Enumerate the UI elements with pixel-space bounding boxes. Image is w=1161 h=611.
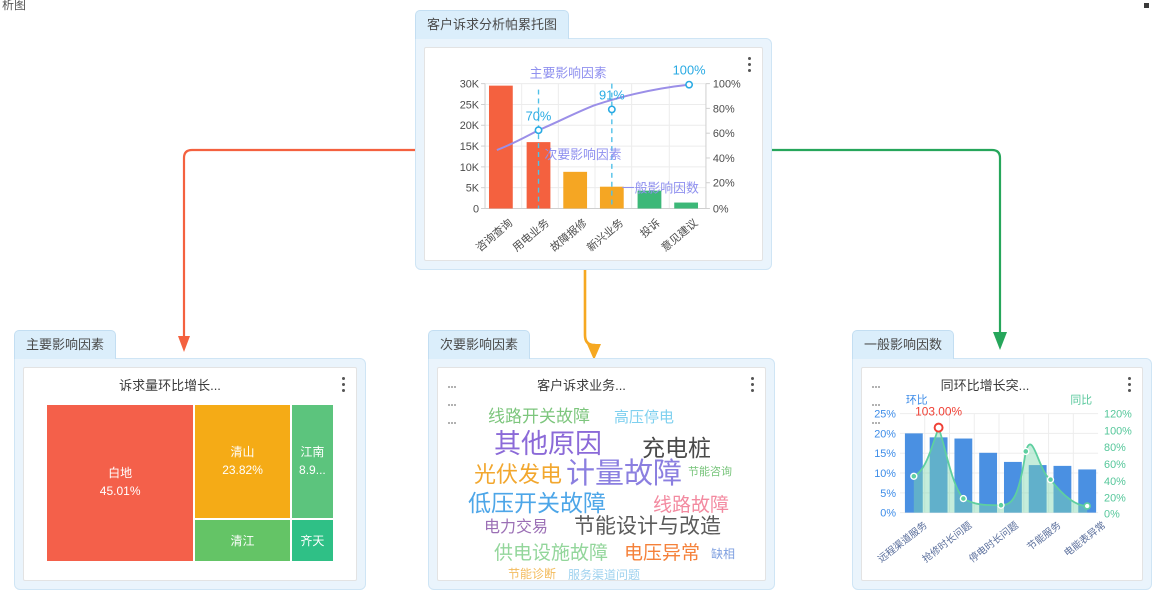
svg-text:5%: 5% [880, 488, 896, 500]
word-cloud-item[interactable]: 高压停电 [614, 410, 674, 425]
panel-pareto: 客户诉求分析帕累托图 [415, 10, 772, 271]
kebab-menu-icon[interactable] [342, 377, 345, 395]
treemap-label: 齐天 [300, 532, 324, 550]
treemap-label: 清山 [231, 443, 255, 461]
svg-text:0%: 0% [1104, 509, 1120, 521]
word-cloud-item[interactable]: 计量故障 [566, 460, 682, 489]
svg-text:5K: 5K [466, 183, 480, 195]
svg-text:60%: 60% [713, 128, 735, 140]
tab-pareto[interactable]: 客户诉求分析帕累托图 [415, 10, 569, 39]
treemap-label: 清江 [231, 532, 255, 550]
word-cloud-item[interactable]: 节能诊断 [508, 568, 556, 580]
svg-text:80%: 80% [1104, 442, 1126, 454]
panel-major-body: 诉求量环比增长... 白地 45.01% 清山 23.82% 江南 [14, 358, 366, 590]
svg-text:咨询查询: 咨询查询 [473, 215, 515, 254]
svg-text:100%: 100% [1104, 425, 1132, 437]
svg-text:15%: 15% [874, 448, 896, 460]
treemap: 白地 45.01% 清山 23.82% 江南 8.9... [46, 404, 334, 562]
treemap-cell[interactable]: 清江 [194, 519, 290, 562]
treemap-label: 江南 [300, 443, 324, 461]
kebab-menu-icon[interactable] [751, 377, 754, 395]
svg-text:节能服务: 节能服务 [1024, 518, 1063, 553]
svg-text:意见建议: 意见建议 [658, 215, 700, 254]
annotation-secondary: 次要影响因素 [544, 147, 621, 162]
pareto-chart: 30K 25K 20K 15K 10K 5K 0 100% 80% 60% [425, 48, 762, 260]
svg-text:100%: 100% [713, 79, 741, 91]
word-cloud-item[interactable]: 低压开关故障 [468, 492, 606, 515]
svg-text:20%: 20% [1104, 493, 1126, 505]
combo-chart: 25% 20% 15% 10% 5% 0% 120% 100% 80% 60% … [862, 368, 1142, 580]
combo-peak-label: 103.00% [915, 405, 962, 419]
treemap-cell[interactable]: 齐天 [291, 519, 334, 562]
svg-text:15K: 15K [460, 141, 480, 153]
svg-text:0%: 0% [880, 508, 896, 520]
word-cloud-item[interactable]: 节能设计与改造 [574, 516, 721, 537]
svg-text:投诉: 投诉 [637, 215, 663, 240]
word-cloud-item[interactable]: 供电设施故障 [494, 544, 608, 563]
svg-text:25%: 25% [874, 409, 896, 421]
svg-text:电能表异常: 电能表异常 [1061, 518, 1108, 559]
card-major-treemap: 诉求量环比增长... 白地 45.01% 清山 23.82% 江南 [23, 367, 357, 581]
svg-text:故障报修: 故障报修 [547, 215, 589, 254]
svg-text:30K: 30K [460, 79, 480, 91]
svg-text:10%: 10% [874, 468, 896, 480]
word-cloud-item[interactable]: 节能咨询 [688, 467, 732, 478]
treemap-value: 8.9... [299, 461, 326, 480]
svg-text:20K: 20K [460, 120, 480, 132]
treemap-label: 白地 [108, 464, 132, 482]
card-title-major: 诉求量环比增长... [24, 375, 356, 394]
corner-marker-dot [1144, 3, 1149, 8]
svg-text:0: 0 [473, 203, 479, 215]
word-cloud-item[interactable]: 其他原因 [494, 431, 602, 458]
combo-right-axis-label: 同比 [1070, 394, 1092, 407]
word-cloud-item[interactable]: 充电桩 [642, 437, 711, 460]
card-secondary-wordcloud: 客户诉求业务... 线路开关故障 高压停电 其他原因 充电桩 光伏发电 计量故障… [437, 367, 766, 581]
treemap-cell[interactable]: 江南 8.9... [291, 404, 334, 519]
annotation-major: 主要影响因素 [530, 66, 607, 81]
panel-secondary: 次要影响因素 客户诉求业务... 线路开关故障 高压停电 其他原因 充电桩 光伏… [428, 330, 775, 591]
panel-secondary-body: 客户诉求业务... 线路开关故障 高压停电 其他原因 充电桩 光伏发电 计量故障… [428, 358, 775, 590]
dashboard-canvas: 析图 客户诉求分析帕累托图 [0, 0, 1161, 611]
word-cloud-item[interactable]: 缺相 [711, 548, 735, 560]
treemap-value: 45.01% [100, 482, 141, 501]
corner-text-fragment: 析图 [2, 0, 26, 13]
svg-text:40%: 40% [713, 153, 735, 165]
card-general-combo: 同环比增长突... [861, 367, 1143, 581]
pareto-point-label-100: 100% [673, 63, 706, 78]
word-cloud-item[interactable]: 电压异常 [624, 544, 700, 563]
card-pareto: 30K 25K 20K 15K 10K 5K 0 100% 80% 60% [424, 47, 763, 261]
svg-text:120%: 120% [1104, 409, 1132, 421]
svg-text:25K: 25K [460, 99, 480, 111]
word-cloud-item[interactable]: 线路开关故障 [488, 408, 590, 425]
svg-text:停电时长问题: 停电时长问题 [966, 518, 1021, 565]
panel-general: 一般影响因数 同环比增长突... [852, 330, 1152, 591]
panel-general-body: 同环比增长突... [852, 358, 1152, 590]
pareto-point-label-70: 70% [526, 108, 552, 123]
svg-text:0%: 0% [713, 203, 729, 215]
panel-pareto-body: 30K 25K 20K 15K 10K 5K 0 100% 80% 60% [415, 38, 772, 270]
tab-secondary[interactable]: 次要影响因素 [428, 330, 530, 359]
pareto-point-label-91: 91% [599, 88, 625, 103]
word-cloud: 线路开关故障 高压停电 其他原因 充电桩 光伏发电 计量故障 节能咨询 低压开关… [446, 398, 757, 574]
svg-text:新兴业务: 新兴业务 [584, 215, 626, 254]
word-cloud-item[interactable]: 光伏发电 [474, 464, 562, 486]
treemap-cell[interactable]: 清山 23.82% [194, 404, 290, 519]
annotation-general: 一般影响因数 [622, 181, 699, 196]
svg-text:20%: 20% [874, 428, 896, 440]
card-title-secondary: 客户诉求业务... [438, 375, 765, 394]
svg-text:抢修时长问题: 抢修时长问题 [920, 518, 975, 565]
svg-text:80%: 80% [713, 103, 735, 115]
svg-text:用电业务: 用电业务 [510, 216, 552, 254]
treemap-value: 23.82% [222, 461, 263, 480]
word-cloud-item[interactable]: 电力交易 [484, 520, 548, 536]
panel-major: 主要影响因素 诉求量环比增长... 白地 45.01% 清山 23.82% [14, 330, 366, 591]
word-cloud-item[interactable]: 线路故障 [653, 496, 729, 515]
svg-text:10K: 10K [460, 162, 480, 174]
tab-major[interactable]: 主要影响因素 [14, 330, 116, 359]
treemap-cell[interactable]: 白地 45.01% [46, 404, 194, 562]
svg-text:20%: 20% [713, 178, 735, 190]
svg-text:40%: 40% [1104, 476, 1126, 488]
word-cloud-item[interactable]: 服务渠道问题 [568, 569, 640, 581]
tab-general[interactable]: 一般影响因数 [852, 330, 954, 359]
svg-text:60%: 60% [1104, 459, 1126, 471]
